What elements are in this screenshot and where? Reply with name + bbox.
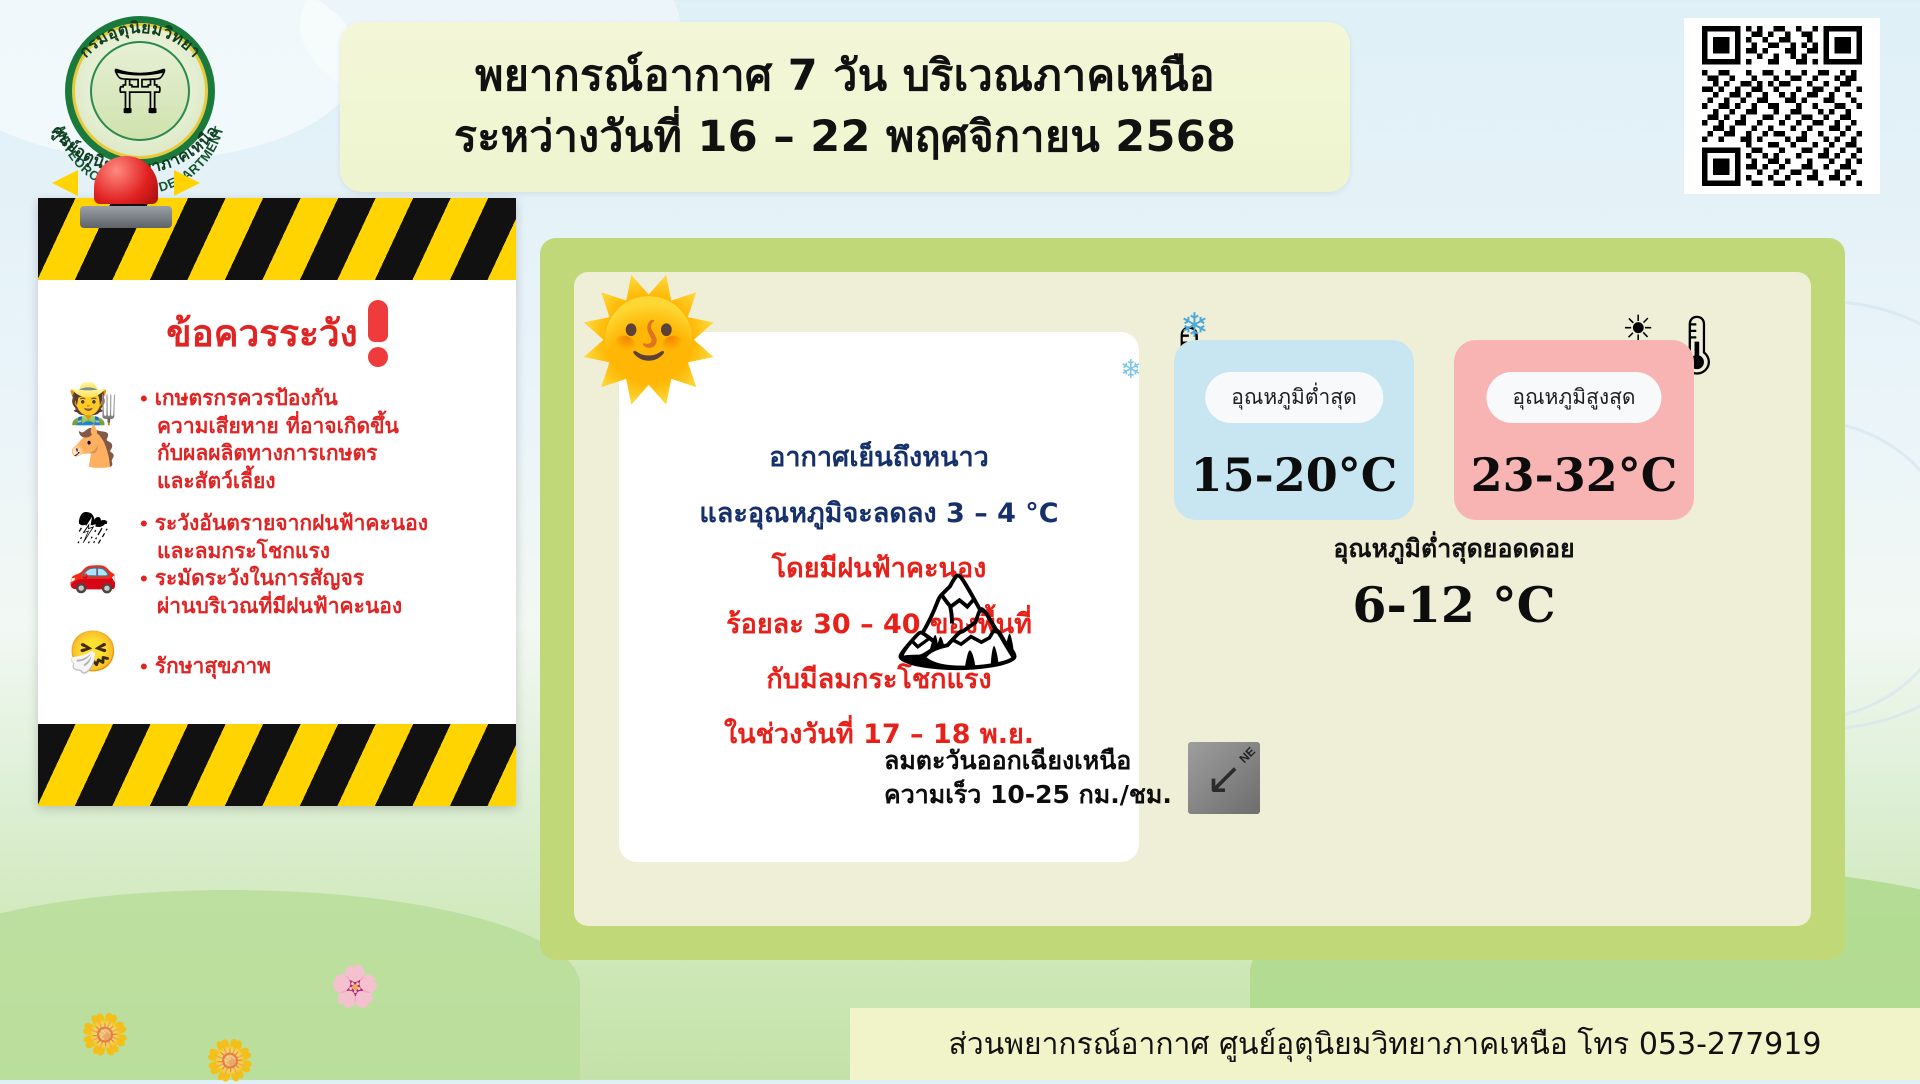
warnings-title-text: ข้อควรระวัง (166, 304, 358, 363)
warnings-title: ข้อควรระวัง (54, 300, 500, 367)
max-temperature-value: 23-32°C (1471, 448, 1678, 502)
title-line-1: พยากรณ์อากาศ 7 วัน บริเวณภาคเหนือ (475, 53, 1215, 100)
bullet-icon: • (140, 565, 148, 593)
flower-decor-3: 🌼 (205, 1037, 255, 1084)
max-temperature-card: อุณหภูมิสูงสุด 23-32°C (1454, 340, 1694, 520)
warning-text: รักษาสุขภาพ (155, 653, 271, 681)
warnings-panel: ข้อควรระวัง 🧑‍🌾 🐴 • เกษตรกรควรป้องกัน คว… (38, 198, 516, 806)
exclamation-bar (368, 300, 388, 342)
warning-text: ความเสียหาย ที่อาจเกิดขึ้น (140, 413, 500, 441)
siren-light-icon (80, 156, 172, 228)
forecast-line: อากาศเย็นถึงหนาว (769, 442, 989, 474)
warning-texts: • ระวังอันตรายจากฝนฟ้าคะนอง และลมกระโชกแ… (140, 508, 500, 621)
main-panel: 🌞 อากาศเย็นถึงหนาว และอุณหภูมิจะลดลง 3 –… (540, 238, 1845, 960)
peak-temperature-label: อุณหภูมิต่ำสุดยอดดอย (1174, 534, 1734, 564)
sun-icon: 🌞 (579, 284, 718, 396)
title-card: พยากรณ์อากาศ 7 วัน บริเวณภาคเหนือ ระหว่า… (340, 22, 1350, 192)
warning-icons: ⛈ 🚗 (54, 508, 132, 594)
warning-first-line: • รักษาสุขภาพ (140, 653, 500, 681)
list-item: 🧑‍🌾 🐴 • เกษตรกรควรป้องกัน ความเสียหาย ที… (54, 383, 500, 496)
footer-contact-text: ส่วนพยากรณ์อากาศ ศูนย์อุตุนิยมวิทยาภาคเห… (949, 1021, 1822, 1068)
max-temperature-label: อุณหภูมิสูงสุด (1486, 372, 1661, 423)
siren-dome (94, 156, 158, 204)
footer-bar: ส่วนพยากรณ์อากาศ ศูนย์อุตุนิยมวิทยาภาคเห… (850, 1008, 1920, 1080)
exclamation-icon (368, 300, 388, 367)
wind-block: ลมตะวันออกเฉียงเหนือ ความเร็ว 10-25 กม./… (884, 742, 1260, 814)
wind-direction-icon: ↙ NE (1188, 742, 1260, 814)
warning-text: ระมัดระวังในการสัญจร (155, 565, 364, 593)
warning-text: เกษตรกรควรป้องกัน (155, 385, 338, 413)
forecast-line: และอุณหภูมิจะลดลง 3 – 4 °C (699, 498, 1058, 530)
warning-icons: 🤧 (54, 631, 132, 674)
car-rain-icon: 🚗 (68, 551, 118, 594)
logo-top-text: กรมอุตุนิยมวิทยา (76, 19, 203, 61)
min-temperature-card: อุณหภูมิต่ำสุด 15-20°C (1174, 340, 1414, 520)
warning-text: ผ่านบริเวณที่มีฝนฟ้าคะนอง (140, 593, 500, 621)
bullet-icon: • (140, 510, 148, 538)
flower-decor-2: 🌸 (330, 963, 380, 1010)
peak-temperature-block: อุณหภูมิต่ำสุดยอดดอย 6-12 °C (1174, 534, 1734, 634)
wind-texts: ลมตะวันออกเฉียงเหนือ ความเร็ว 10-25 กม./… (884, 744, 1172, 812)
warning-texts: • รักษาสุขภาพ (140, 631, 500, 681)
mountain-icon: 🏔 (894, 572, 1021, 672)
warning-text: ระวังอันตรายจากฝนฟ้าคะนอง (155, 510, 428, 538)
farmer-icon: 🧑‍🌾 (68, 383, 118, 426)
warning-text: และลมกระโชกแรง (140, 538, 500, 566)
peak-temperature-value: 6-12 °C (1174, 576, 1734, 634)
min-temperature-label: อุณหภูมิต่ำสุด (1205, 372, 1383, 423)
warnings-body: ข้อควรระวัง 🧑‍🌾 🐴 • เกษตรกรควรป้องกัน คว… (38, 280, 516, 724)
list-item: ⛈ 🚗 • ระวังอันตรายจากฝนฟ้าคะนอง และลมกระ… (54, 508, 500, 621)
siren-base (80, 206, 172, 228)
wind-direction-text: ลมตะวันออกเฉียงเหนือ (884, 744, 1172, 778)
exclamation-dot (368, 347, 388, 367)
warning-first-line: • ระวังอันตรายจากฝนฟ้าคะนอง (140, 510, 500, 538)
siren-beam-left (52, 170, 78, 196)
svg-text:กรมอุตุนิยมวิทยา: กรมอุตุนิยมวิทยา (76, 19, 203, 61)
warning-first-line: • เกษตรกรควรป้องกัน (140, 385, 500, 413)
main-panel-inner: 🌞 อากาศเย็นถึงหนาว และอุณหภูมิจะลดลง 3 –… (574, 272, 1811, 926)
siren-beam-right (174, 170, 200, 196)
warning-texts: • เกษตรกรควรป้องกัน ความเสียหาย ที่อาจเก… (140, 383, 500, 496)
livestock-icon: 🐴 (68, 426, 118, 469)
bullet-icon: • (140, 653, 148, 681)
thunderstorm-icon: ⛈ (77, 508, 109, 551)
warning-text: และสัตว์เลี้ยง (140, 468, 500, 496)
bullet-icon: • (140, 385, 148, 413)
warning-text: กับผลผลิตทางการเกษตร (140, 440, 500, 468)
wind-speed-text: ความเร็ว 10-25 กม./ชม. (884, 778, 1172, 812)
warning-icons: 🧑‍🌾 🐴 (54, 383, 132, 469)
temperature-row: ❄ 🌡 ❄ อุณหภูมิต่ำสุด 15-20°C ☀ 🌡 อุณหภูม… (1154, 300, 1774, 530)
sick-person-icon: 🤧 (68, 631, 118, 674)
warning-first-line: • ระมัดระวังในการสัญจร (140, 565, 500, 593)
qr-code[interactable] (1684, 18, 1880, 194)
snowflake-icon-small: ❄ (1120, 354, 1142, 385)
title-line-2: ระหว่างวันที่ 16 – 22 พฤศจิกายน 2568 (454, 114, 1236, 161)
min-temperature-value: 15-20°C (1191, 448, 1398, 502)
hazard-stripe-bottom (38, 724, 516, 806)
wind-arrow-glyph: ↙ (1205, 753, 1242, 804)
qr-code-image (1692, 26, 1872, 186)
list-item: 🤧 • รักษาสุขภาพ (54, 631, 500, 681)
flower-decor-1: 🌼 (80, 1011, 130, 1058)
